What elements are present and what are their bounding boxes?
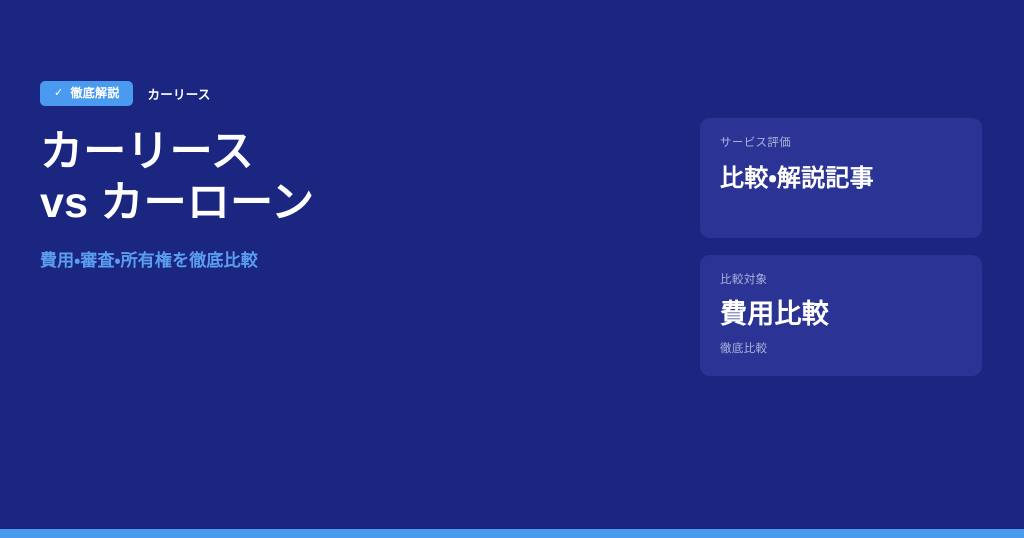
info-card-list: サービス評価 比較・解説記事 比較対象 費用比較 徹底比較 (700, 118, 982, 376)
card-label: サービス評価 (720, 138, 962, 150)
page-subtitle: 費用・審査・所有権を徹底比較 (40, 250, 640, 272)
page-title: カーリース vs カーローン (40, 127, 640, 228)
card-note: 徹底比較 (720, 344, 962, 356)
check-icon: ✓ (54, 88, 63, 99)
info-card-service-rating[interactable]: サービス評価 比較・解説記事 (700, 118, 982, 238)
hero-content: ✓ 徹底解説 カーリース カーリース vs カーローン 費用・審査・所有権を徹底… (40, 80, 640, 273)
bottom-accent-bar (0, 529, 1024, 538)
category-label: カーリース (147, 84, 210, 103)
card-value: 比較・解説記事 (720, 166, 962, 192)
hero-slide: ✓ 徹底解説 カーリース カーリース vs カーローン 費用・審査・所有権を徹底… (0, 0, 1024, 538)
card-value: 費用比較 (720, 300, 962, 330)
card-label: 比較対象 (720, 275, 962, 287)
status-badge-label: 徹底解説 (70, 87, 119, 99)
info-card-comparison-target[interactable]: 比較対象 費用比較 徹底比較 (700, 255, 982, 376)
eyebrow-row: ✓ 徹底解説 カーリース (40, 80, 640, 106)
status-badge[interactable]: ✓ 徹底解説 (40, 81, 133, 106)
